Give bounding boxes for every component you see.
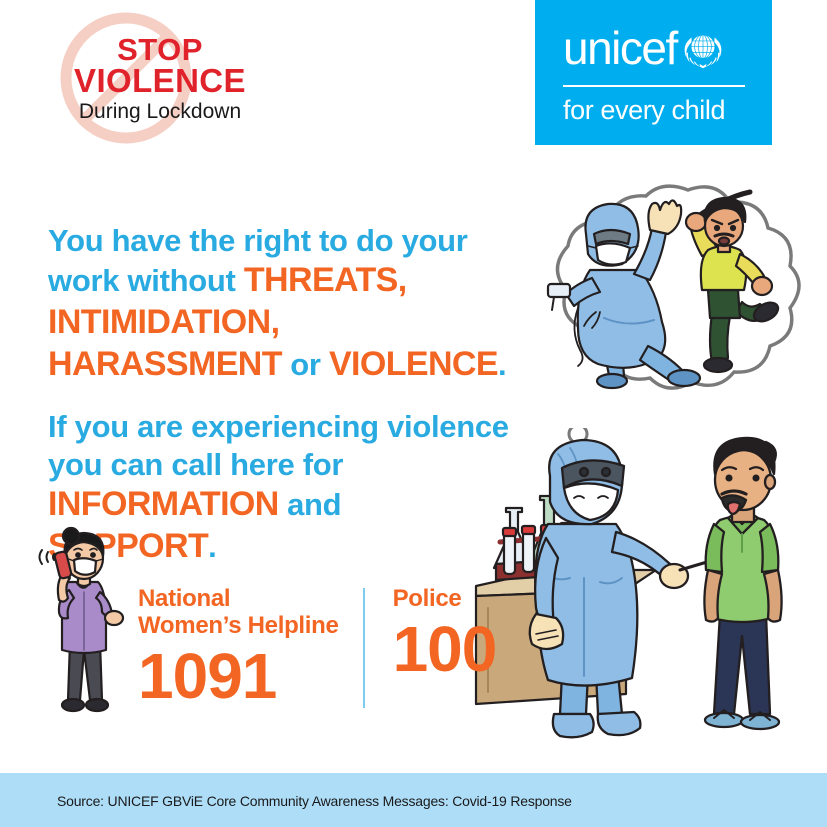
helpline-label: National Women’s Helpline [138,586,339,640]
footer-source-text: Source: UNICEF GBViE Core Community Awar… [57,793,572,809]
unicef-wordmark-row: unicef [563,25,725,71]
badge-violence-text: VIOLENCE [30,64,290,97]
badge-stop-text: STOP [30,34,290,65]
helpline-national-womens: National Women’s Helpline 1091 [138,586,339,708]
woman-on-phone-illustration [28,520,140,735]
p2-seg-1: INFORMATION [48,485,279,523]
infographic-poster: STOP VIOLENCE During Lockdown unicef [0,0,827,827]
helpline-police: Police 100 [393,586,497,681]
p2-seg-2: and [279,487,342,522]
p2-seg-0: If you are experiencing violence you can… [48,409,509,482]
patient-figure [704,438,781,729]
helpline-label: Police [393,586,497,613]
helpline-group: National Women’s Helpline 1091 Police 10… [138,586,496,708]
unicef-logo-block: unicef [535,0,772,145]
unicef-wordmark: unicef [563,25,677,71]
helpline-number[interactable]: 100 [393,617,497,681]
covid-swab-testing-illustration [466,428,824,770]
unicef-tagline: for every child [563,94,725,126]
badge-subtitle: During Lockdown [30,101,290,122]
message-paragraph-1: You have the right to do your work witho… [48,222,518,386]
footer-band: Source: UNICEF GBViE Core Community Awar… [0,773,827,827]
stop-violence-badge: STOP VIOLENCE During Lockdown [30,8,290,148]
helpline-divider [363,588,365,708]
helpline-number[interactable]: 1091 [138,644,339,708]
unicef-divider-rule [563,85,745,87]
un-emblem-icon [681,26,725,70]
p1-seg-3: VIOLENCE [329,345,498,383]
violence-thought-bubble-illustration [512,178,812,446]
p2-seg-4: . [208,529,216,564]
p1-seg-4: . [498,347,506,382]
p1-seg-2: or [282,347,329,382]
